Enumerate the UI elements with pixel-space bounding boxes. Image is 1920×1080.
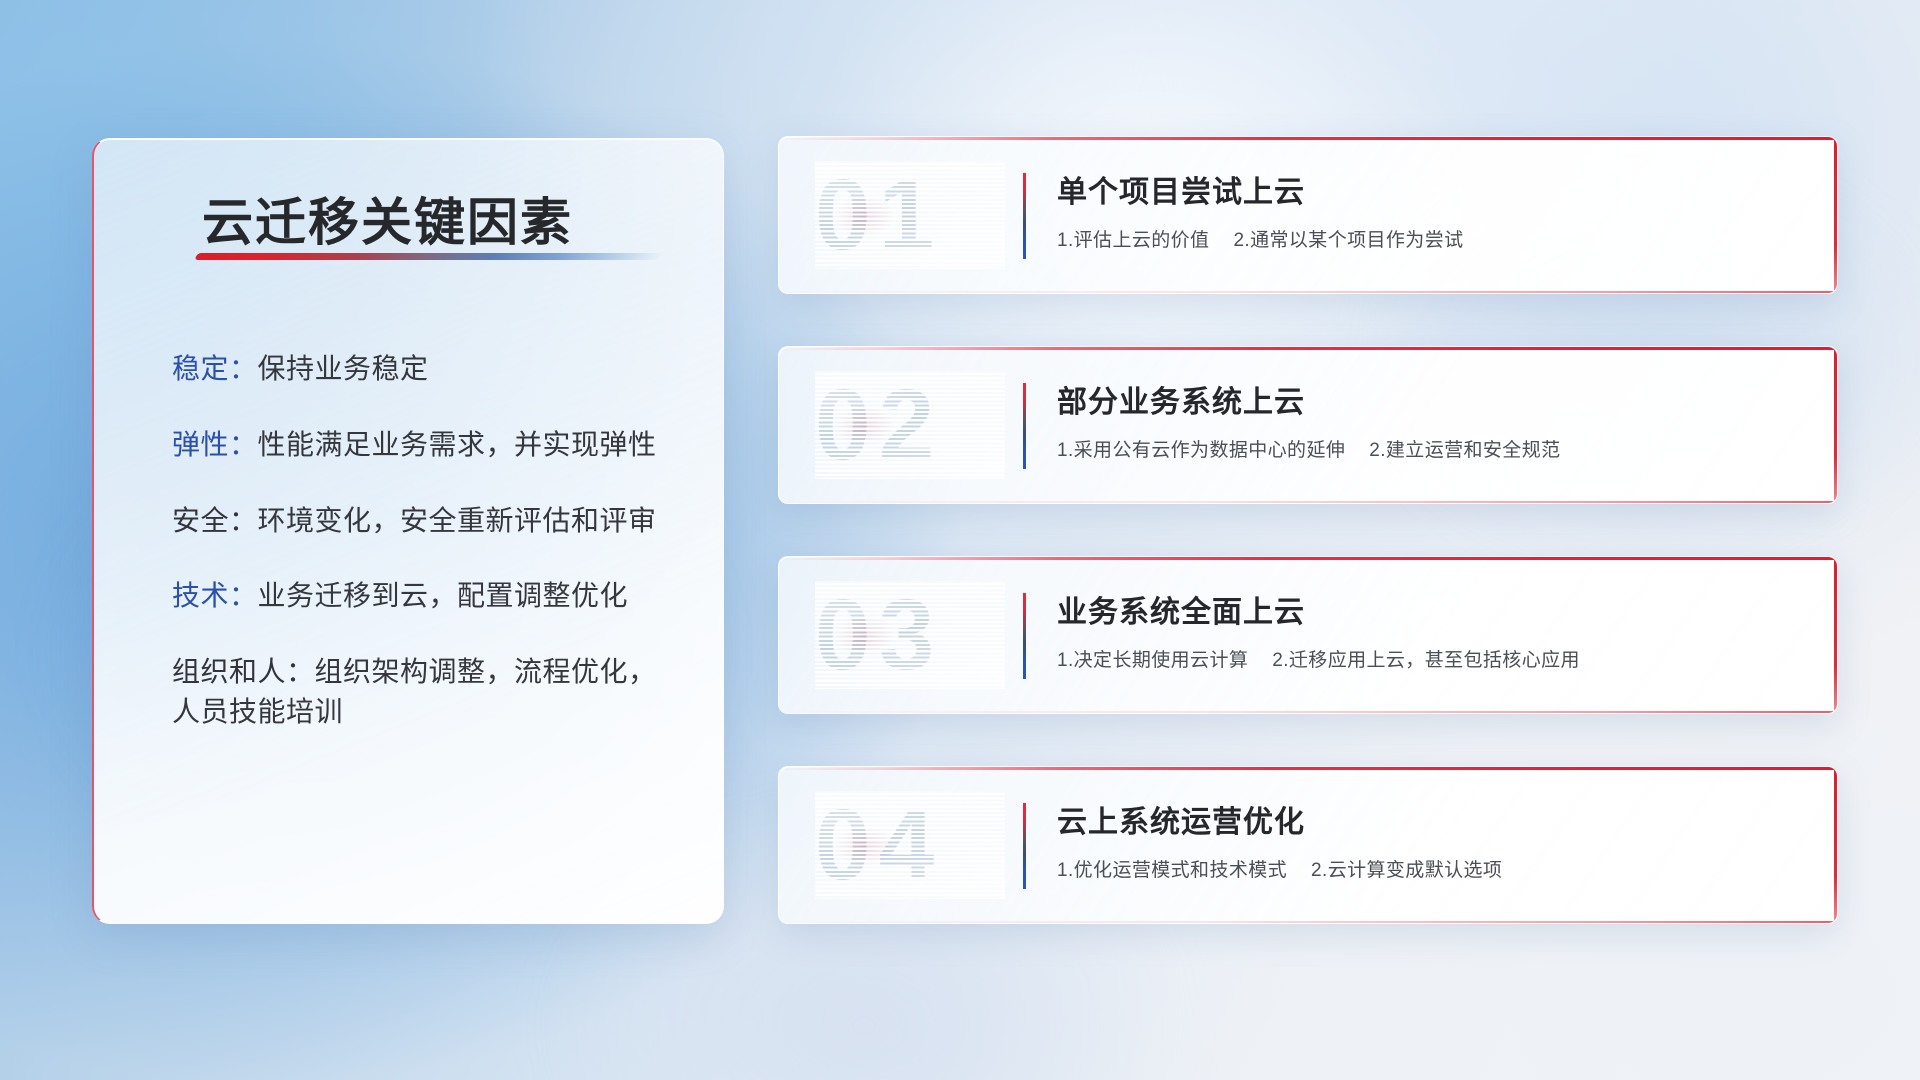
card-point: 1.采用公有云作为数据中心的延伸 xyxy=(1057,440,1345,461)
card-body: 单个项目尝试上云1.评估上云的价值2.通常以某个项目作为尝试 xyxy=(1057,167,1797,252)
page-title: 云迁移关键因素 xyxy=(202,181,573,255)
factor-text: 保持业务稳定 xyxy=(258,353,429,384)
factor-text: 业务迁移到云，配置调整优化 xyxy=(258,580,629,611)
card-divider-bar xyxy=(1023,383,1026,469)
card-bottom-accent-line xyxy=(779,291,1837,293)
card-description: 1.评估上云的价值2.通常以某个项目作为尝试 xyxy=(1057,225,1797,252)
factor-row: 组织和人：组织架构调整，流程优化，人员技能培训 xyxy=(172,652,677,732)
card-step-number: 04 xyxy=(815,791,1005,899)
factor-label: 安全： xyxy=(172,505,258,536)
card-step-number: 02 xyxy=(815,371,1005,479)
stage-card[interactable]: 02部分业务系统上云1.采用公有云作为数据中心的延伸2.建立运营和安全规范 xyxy=(778,346,1838,504)
slide-stage: 云迁移关键因素 稳定：保持业务稳定弹性：性能满足业务需求，并实现弹性安全：环境变… xyxy=(0,0,1920,1080)
card-point: 1.决定长期使用云计算 xyxy=(1057,650,1248,671)
card-step-number-fade xyxy=(815,371,1005,479)
factor-row: 安全：环境变化，安全重新评估和评审 xyxy=(172,501,677,541)
card-point: 1.优化运营模式和技术模式 xyxy=(1057,860,1287,881)
card-point: 2.迁移应用上云，甚至包括核心应用 xyxy=(1272,650,1580,671)
card-bottom-accent-line xyxy=(779,501,1837,503)
card-title: 云上系统运营优化 xyxy=(1057,797,1797,841)
stage-card[interactable]: 03业务系统全面上云1.决定长期使用云计算2.迁移应用上云，甚至包括核心应用 xyxy=(778,556,1838,714)
key-factors-panel: 云迁移关键因素 稳定：保持业务稳定弹性：性能满足业务需求，并实现弹性安全：环境变… xyxy=(92,138,724,924)
title-underline-gradient xyxy=(194,253,663,260)
card-top-accent-line xyxy=(779,557,1837,560)
card-title: 业务系统全面上云 xyxy=(1057,587,1797,631)
card-point: 2.云计算变成默认选项 xyxy=(1311,860,1502,881)
factor-row: 稳定：保持业务稳定 xyxy=(172,349,677,389)
cloud-migration-stage-cards: 01单个项目尝试上云1.评估上云的价值2.通常以某个项目作为尝试02部分业务系统… xyxy=(778,136,1838,976)
card-description: 1.决定长期使用云计算2.迁移应用上云，甚至包括核心应用 xyxy=(1057,645,1797,672)
card-step-number-fade xyxy=(815,581,1005,689)
card-step-number-fade xyxy=(815,791,1005,899)
card-divider-bar xyxy=(1023,173,1026,259)
key-factors-list: 稳定：保持业务稳定弹性：性能满足业务需求，并实现弹性安全：环境变化，安全重新评估… xyxy=(172,349,677,768)
factor-label: 稳定： xyxy=(172,353,258,384)
card-point: 1.评估上云的价值 xyxy=(1057,230,1209,251)
card-title: 单个项目尝试上云 xyxy=(1057,167,1797,211)
card-title: 部分业务系统上云 xyxy=(1057,377,1797,421)
card-body: 云上系统运营优化1.优化运营模式和技术模式2.云计算变成默认选项 xyxy=(1057,797,1797,882)
card-point: 2.建立运营和安全规范 xyxy=(1369,440,1560,461)
factor-text: 环境变化，安全重新评估和评审 xyxy=(258,505,657,536)
card-top-accent-line xyxy=(779,767,1837,770)
factor-row: 弹性：性能满足业务需求，并实现弹性 xyxy=(172,425,677,465)
stage-card[interactable]: 01单个项目尝试上云1.评估上云的价值2.通常以某个项目作为尝试 xyxy=(778,136,1838,294)
factor-text: 性能满足业务需求，并实现弹性 xyxy=(258,429,657,460)
factor-row: 技术：业务迁移到云，配置调整优化 xyxy=(172,576,677,616)
card-top-accent-line xyxy=(779,137,1837,140)
card-body: 部分业务系统上云1.采用公有云作为数据中心的延伸2.建立运营和安全规范 xyxy=(1057,377,1797,462)
card-divider-bar xyxy=(1023,593,1026,679)
stage-card[interactable]: 04云上系统运营优化1.优化运营模式和技术模式2.云计算变成默认选项 xyxy=(778,766,1838,924)
card-body: 业务系统全面上云1.决定长期使用云计算2.迁移应用上云，甚至包括核心应用 xyxy=(1057,587,1797,672)
card-step-number: 03 xyxy=(815,581,1005,689)
card-description: 1.优化运营模式和技术模式2.云计算变成默认选项 xyxy=(1057,855,1797,882)
card-bottom-accent-line xyxy=(779,711,1837,713)
card-point: 2.通常以某个项目作为尝试 xyxy=(1233,230,1463,251)
factor-label: 弹性： xyxy=(172,429,258,460)
key-factors-panel-inner: 云迁移关键因素 稳定：保持业务稳定弹性：性能满足业务需求，并实现弹性安全：环境变… xyxy=(134,139,687,923)
card-right-accent-line xyxy=(1834,137,1837,293)
card-right-accent-line xyxy=(1834,557,1837,713)
factor-label: 组织和人： xyxy=(172,656,315,687)
card-bottom-accent-line xyxy=(779,921,1837,923)
card-right-accent-line xyxy=(1834,347,1837,503)
card-description: 1.采用公有云作为数据中心的延伸2.建立运营和安全规范 xyxy=(1057,435,1797,462)
card-right-accent-line xyxy=(1834,767,1837,923)
card-top-accent-line xyxy=(779,347,1837,350)
card-divider-bar xyxy=(1023,803,1026,889)
factor-label: 技术： xyxy=(172,580,258,611)
card-step-number-fade xyxy=(815,161,1005,269)
card-step-number: 01 xyxy=(815,161,1005,269)
